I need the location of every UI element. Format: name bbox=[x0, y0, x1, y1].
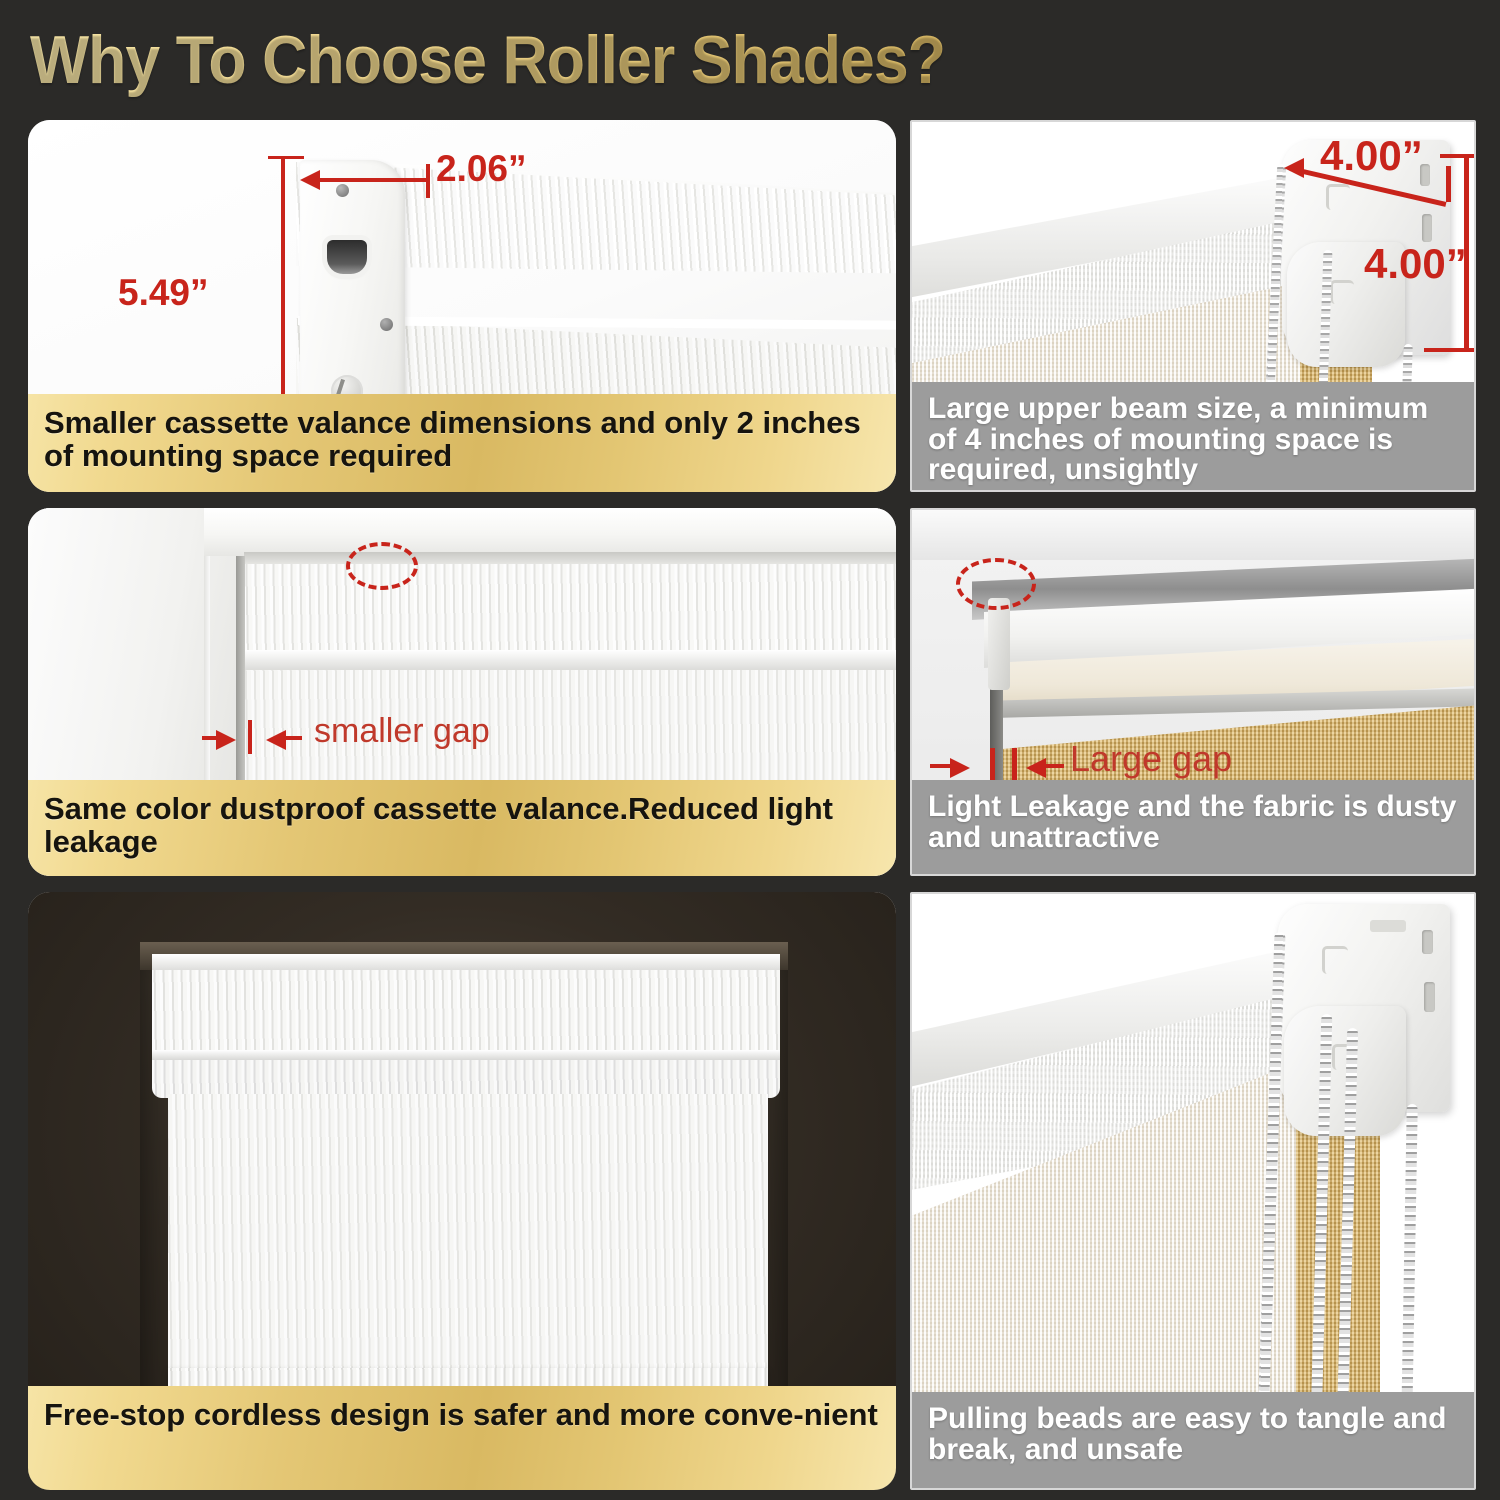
panel-3-caption: Same color dustproof cassette valance.Re… bbox=[28, 780, 896, 876]
dim-height-tick-top bbox=[1440, 154, 1474, 158]
dim-width-arrow-left bbox=[1284, 158, 1304, 178]
page-title-wrap: Why To Choose Roller Shades? bbox=[30, 16, 1470, 104]
bracket-slot-2-icon bbox=[1424, 982, 1435, 1012]
panel-5-caption: Free-stop cordless design is safer and m… bbox=[28, 1386, 896, 1490]
dim-width-tick-right bbox=[426, 164, 430, 198]
screw-icon-top bbox=[336, 184, 349, 197]
highlight-circle bbox=[346, 542, 418, 590]
panel-6-pulling-beads[interactable]: Pulling beads are easy to tangle and bre… bbox=[910, 892, 1476, 1490]
bracket-emboss-icon bbox=[1326, 184, 1350, 210]
dim-width-tick-right bbox=[1446, 166, 1451, 202]
gap-arrow-left-stem bbox=[1044, 764, 1064, 768]
panel-2-caption: Large upper beam size, a minimum of 4 in… bbox=[912, 382, 1474, 490]
gap-tick bbox=[248, 720, 252, 754]
highlight-circle bbox=[956, 558, 1036, 610]
gap-arrow-right-stem bbox=[202, 736, 220, 740]
bracket-emboss-lower-icon bbox=[1330, 280, 1354, 304]
dim-height-label: 5.49” bbox=[118, 272, 209, 314]
dim-height-tick-top bbox=[268, 156, 304, 159]
screw-icon-mid bbox=[380, 318, 393, 331]
ceiling-shadow bbox=[912, 510, 1474, 560]
dim-width-line bbox=[304, 178, 428, 182]
valance-face bbox=[244, 564, 896, 658]
page-title: Why To Choose Roller Shades? bbox=[30, 16, 1355, 104]
panel-1-smaller-cassette[interactable]: 2.06” 5.49” Smaller cassette valance dim… bbox=[28, 120, 896, 492]
gap-label: smaller gap bbox=[314, 712, 490, 751]
gap-arrow-right-stem bbox=[930, 764, 954, 768]
dim-height-label: 4.00” bbox=[1364, 240, 1467, 288]
bracket-emboss-icon bbox=[1322, 946, 1348, 974]
dim-width-label: 2.06” bbox=[436, 148, 527, 190]
panel-2-large-upper-beam[interactable]: 4.00” 4.00” Large upper beam size, a min… bbox=[910, 120, 1476, 492]
valance-bottom-lip bbox=[244, 650, 896, 670]
cassette-valance-face bbox=[152, 970, 780, 1054]
bead-chain-4 bbox=[1401, 1104, 1418, 1422]
bracket-hardware bbox=[988, 598, 1010, 690]
gap-arrow-left-stem bbox=[284, 736, 302, 740]
cassette-valance-lower bbox=[152, 1060, 780, 1098]
dim-width-label: 4.00” bbox=[1320, 132, 1423, 180]
panel-4-light-leakage[interactable]: Large gap Light Leakage and the fabric i… bbox=[910, 508, 1476, 876]
bracket-slot-1-icon bbox=[1422, 930, 1433, 954]
bracket-notch-icon bbox=[1370, 920, 1406, 932]
gap-arrow-right bbox=[950, 758, 970, 778]
gap-arrow-left bbox=[266, 730, 286, 750]
panel-1-caption: Smaller cassette valance dimensions and … bbox=[28, 394, 896, 492]
gap-arrow-left bbox=[1026, 758, 1046, 778]
panel-6-caption: Pulling beads are easy to tangle and bre… bbox=[912, 1392, 1474, 1488]
gap-arrow-right bbox=[216, 730, 236, 750]
shade-fabric-main bbox=[168, 1094, 768, 1382]
panel-3-dustproof-cassette[interactable]: smaller gap Same color dustproof cassett… bbox=[28, 508, 896, 876]
window-frame-head bbox=[204, 508, 896, 556]
dim-width-arrow-left bbox=[300, 170, 320, 190]
panel-4-caption: Light Leakage and the fabric is dusty an… bbox=[912, 780, 1474, 874]
dim-height-tick-bottom bbox=[1424, 348, 1474, 352]
clutch-slot-icon bbox=[327, 240, 367, 274]
infographic-root: Why To Choose Roller Shades? bbox=[0, 0, 1500, 1500]
comparison-grid: 2.06” 5.49” Smaller cassette valance dim… bbox=[0, 104, 1500, 1500]
panel-5-cordless-design[interactable]: Free-stop cordless design is safer and m… bbox=[28, 892, 896, 1490]
gap-label: Large gap bbox=[1070, 738, 1232, 780]
bracket-slot-2-icon bbox=[1422, 214, 1432, 242]
